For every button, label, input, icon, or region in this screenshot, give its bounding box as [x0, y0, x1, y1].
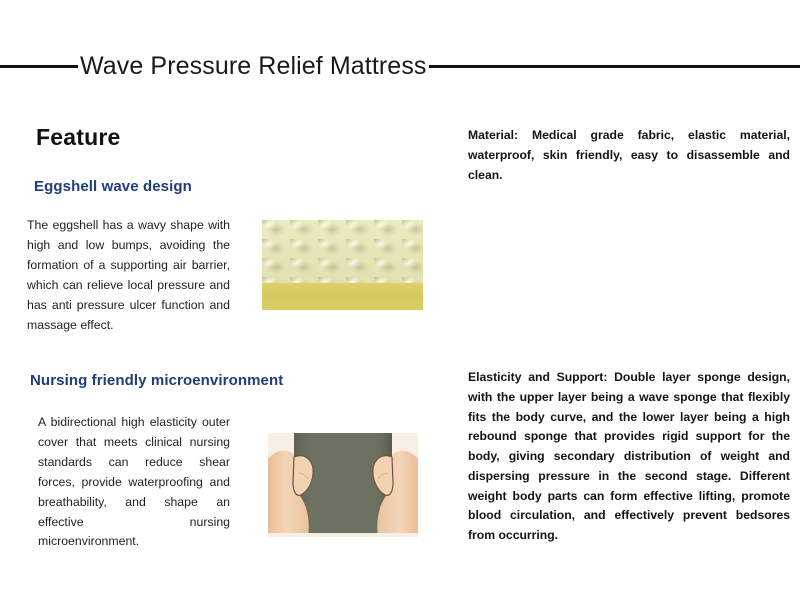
section-body-nursing-friendly-microenvironment: A bidirectional high elasticity outer co… [38, 413, 230, 552]
page-title: Wave Pressure Relief Mattress [78, 54, 429, 79]
foam-bumpy-surface [262, 220, 423, 283]
hands-stretching-fabric-image [268, 433, 418, 537]
elasticity-support-description-text: Elasticity and Support: Double layer spo… [468, 368, 790, 546]
eggshell-foam-swatch-image [262, 220, 423, 310]
feature-heading: Feature [36, 124, 120, 151]
title-rule-left [0, 65, 78, 68]
section-heading-eggshell-wave-design: Eggshell wave design [34, 178, 192, 195]
section-heading-nursing-friendly-microenvironment: Nursing friendly microenvironment [30, 372, 283, 389]
hands-fabric-illustration [268, 433, 418, 537]
material-description-text: Material: Medical grade fabric, elastic … [468, 126, 790, 185]
section-body-eggshell-wave-design: The eggshell has a wavy shape with high … [27, 216, 230, 335]
left-column: Feature Eggshell wave design The eggshel… [0, 100, 450, 600]
foam-solid-base [262, 283, 423, 310]
slide-title-bar: Wave Pressure Relief Mattress [0, 48, 800, 84]
right-column: Material: Medical grade fabric, elastic … [460, 100, 800, 600]
title-rule-right [429, 65, 800, 68]
